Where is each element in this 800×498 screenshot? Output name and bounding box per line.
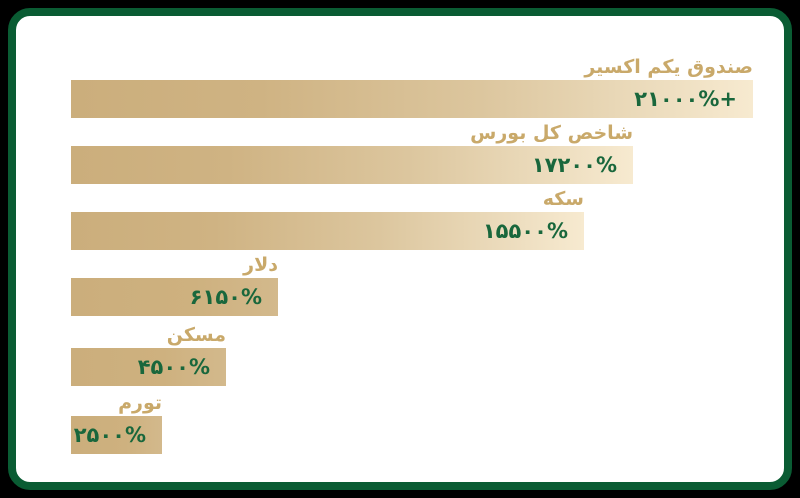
chart-card: صندوق یکم اکسیر+۲۱۰۰۰%شاخص کل بورس۱۷۲۰۰%… <box>8 8 792 490</box>
bar-category-label: صندوق یکم اکسیر <box>584 55 753 79</box>
bar-category-label: مسکن <box>167 323 226 347</box>
bar-rect: ۲۵۰۰% <box>71 416 162 454</box>
bar-group: شاخص کل بورس۱۷۲۰۰% <box>71 146 633 184</box>
bar-category-label: دلار <box>243 253 278 277</box>
bar-rect: +۲۱۰۰۰% <box>71 80 753 118</box>
bar-value-label: +۲۱۰۰۰% <box>634 80 737 118</box>
bar-category-label: شاخص کل بورس <box>470 121 633 145</box>
bar-group: تورم۲۵۰۰% <box>71 416 162 454</box>
bar-value-label: ۲۵۰۰% <box>74 416 146 454</box>
bar-rect: ۱۷۲۰۰% <box>71 146 633 184</box>
bar-value-label: ۱۵۵۰۰% <box>483 212 568 250</box>
bar-group: دلار۶۱۵۰% <box>71 278 278 316</box>
bar-value-label: ۶۱۵۰% <box>190 278 262 316</box>
bar-group: مسکن۴۵۰۰% <box>71 348 226 386</box>
bar-rect: ۶۱۵۰% <box>71 278 278 316</box>
bar-value-label: ۱۷۲۰۰% <box>532 146 617 184</box>
bar-chart-plot-area: صندوق یکم اکسیر+۲۱۰۰۰%شاخص کل بورس۱۷۲۰۰%… <box>16 16 784 482</box>
bar-group: سکه۱۵۵۰۰% <box>71 212 584 250</box>
bar-category-label: تورم <box>118 391 162 415</box>
bar-rect: ۱۵۵۰۰% <box>71 212 584 250</box>
bar-category-label: سکه <box>543 187 584 211</box>
bar-group: صندوق یکم اکسیر+۲۱۰۰۰% <box>71 80 753 118</box>
bar-rect: ۴۵۰۰% <box>71 348 226 386</box>
bar-value-label: ۴۵۰۰% <box>138 348 210 386</box>
